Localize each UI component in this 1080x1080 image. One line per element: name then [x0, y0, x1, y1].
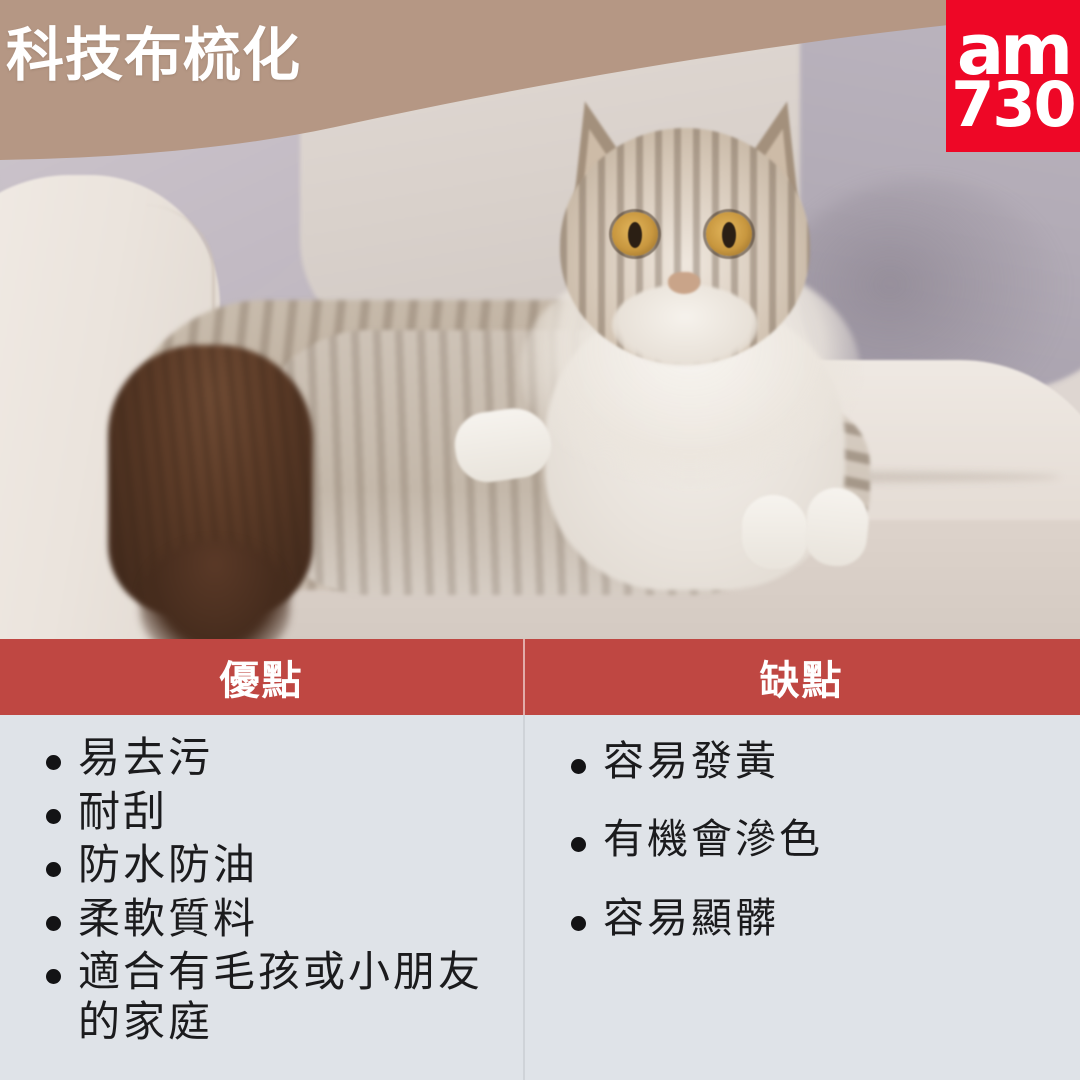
list-item: 防水防油: [36, 840, 507, 890]
cat-nose: [668, 272, 700, 294]
list-item: 易去污: [36, 733, 507, 783]
cat-pupil-right: [722, 222, 736, 248]
pros-list: 易去污 耐刮 防水防油 柔軟質料 適合有毛孩或小朋友的家庭: [36, 733, 507, 1046]
infographic-card: 科技布梳化 am 730 優點 缺點 易去污 耐刮 防水防油 柔軟質料 適合有毛…: [0, 0, 1080, 1080]
list-item: 有機會滲色: [561, 815, 1064, 863]
table-header-pros: 優點: [0, 639, 523, 715]
table-header-cons: 缺點: [523, 639, 1080, 715]
list-item: 適合有毛孩或小朋友的家庭: [36, 947, 507, 1046]
logo-text-730: 730: [951, 79, 1074, 131]
list-item: 耐刮: [36, 787, 507, 837]
hero-photo: [0, 0, 1080, 639]
column-divider: [523, 715, 525, 1080]
table-header-row: 優點 缺點: [0, 639, 1080, 715]
am730-logo[interactable]: am 730: [946, 0, 1080, 152]
pros-column: 易去污 耐刮 防水防油 柔軟質料 適合有毛孩或小朋友的家庭: [0, 715, 523, 1080]
list-item: 容易顯髒: [561, 894, 1064, 942]
cat-muzzle: [612, 284, 758, 366]
pros-cons-table: 優點 缺點 易去污 耐刮 防水防油 柔軟質料 適合有毛孩或小朋友的家庭 容易發黃…: [0, 639, 1080, 1080]
list-item: 柔軟質料: [36, 894, 507, 944]
cons-column: 容易發黃 有機會滲色 容易顯髒: [523, 715, 1080, 1080]
cat-pupil-left: [628, 222, 642, 248]
cat-paw-front-right: [742, 495, 808, 569]
header-divider: [523, 639, 525, 715]
cons-list: 容易發黃 有機會滲色 容易顯髒: [561, 737, 1064, 942]
list-item: 容易發黃: [561, 737, 1064, 785]
table-body: 易去污 耐刮 防水防油 柔軟質料 適合有毛孩或小朋友的家庭 容易發黃 有機會滲色…: [0, 715, 1080, 1080]
